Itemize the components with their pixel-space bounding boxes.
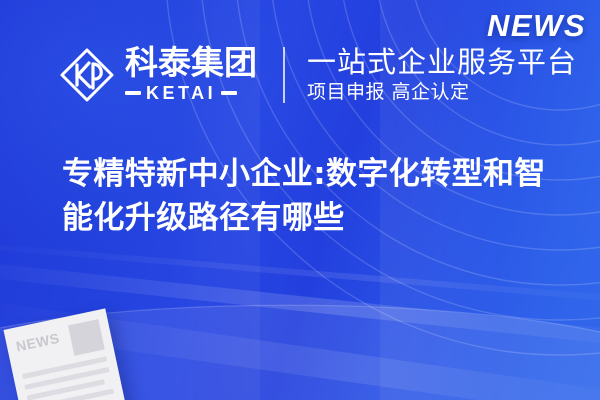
newspaper-masthead-label: NEWS <box>14 327 65 356</box>
header-divider <box>283 47 285 103</box>
corner-news-label: NEWS <box>487 8 586 44</box>
slogan-sub: 项目申报 高企认定 <box>307 81 577 104</box>
dash-left-icon <box>125 91 141 95</box>
brand-name-en-row: KETAI <box>125 83 257 104</box>
brand-wordmark: 科泰集团 KETAI <box>125 46 257 103</box>
newspaper-thumbnail-icon <box>68 319 105 356</box>
brand-name-en: KETAI <box>146 83 216 104</box>
article-title: 专精特新中小企业:数字化转型和智能化升级路径有哪些 <box>62 152 552 241</box>
news-banner: NEWS 科泰集团 KETAI <box>0 0 600 400</box>
slogan-main: 一站式企业服务平台 <box>307 46 577 78</box>
brand-header: 科泰集团 KETAI 一站式企业服务平台 项目申报 高企认定 <box>58 42 577 108</box>
dash-right-icon <box>221 91 237 95</box>
brand-name-cn: 科泰集团 <box>125 46 257 80</box>
slogan-block: 一站式企业服务平台 项目申报 高企认定 <box>307 46 577 104</box>
ketai-logo-icon <box>58 46 116 104</box>
